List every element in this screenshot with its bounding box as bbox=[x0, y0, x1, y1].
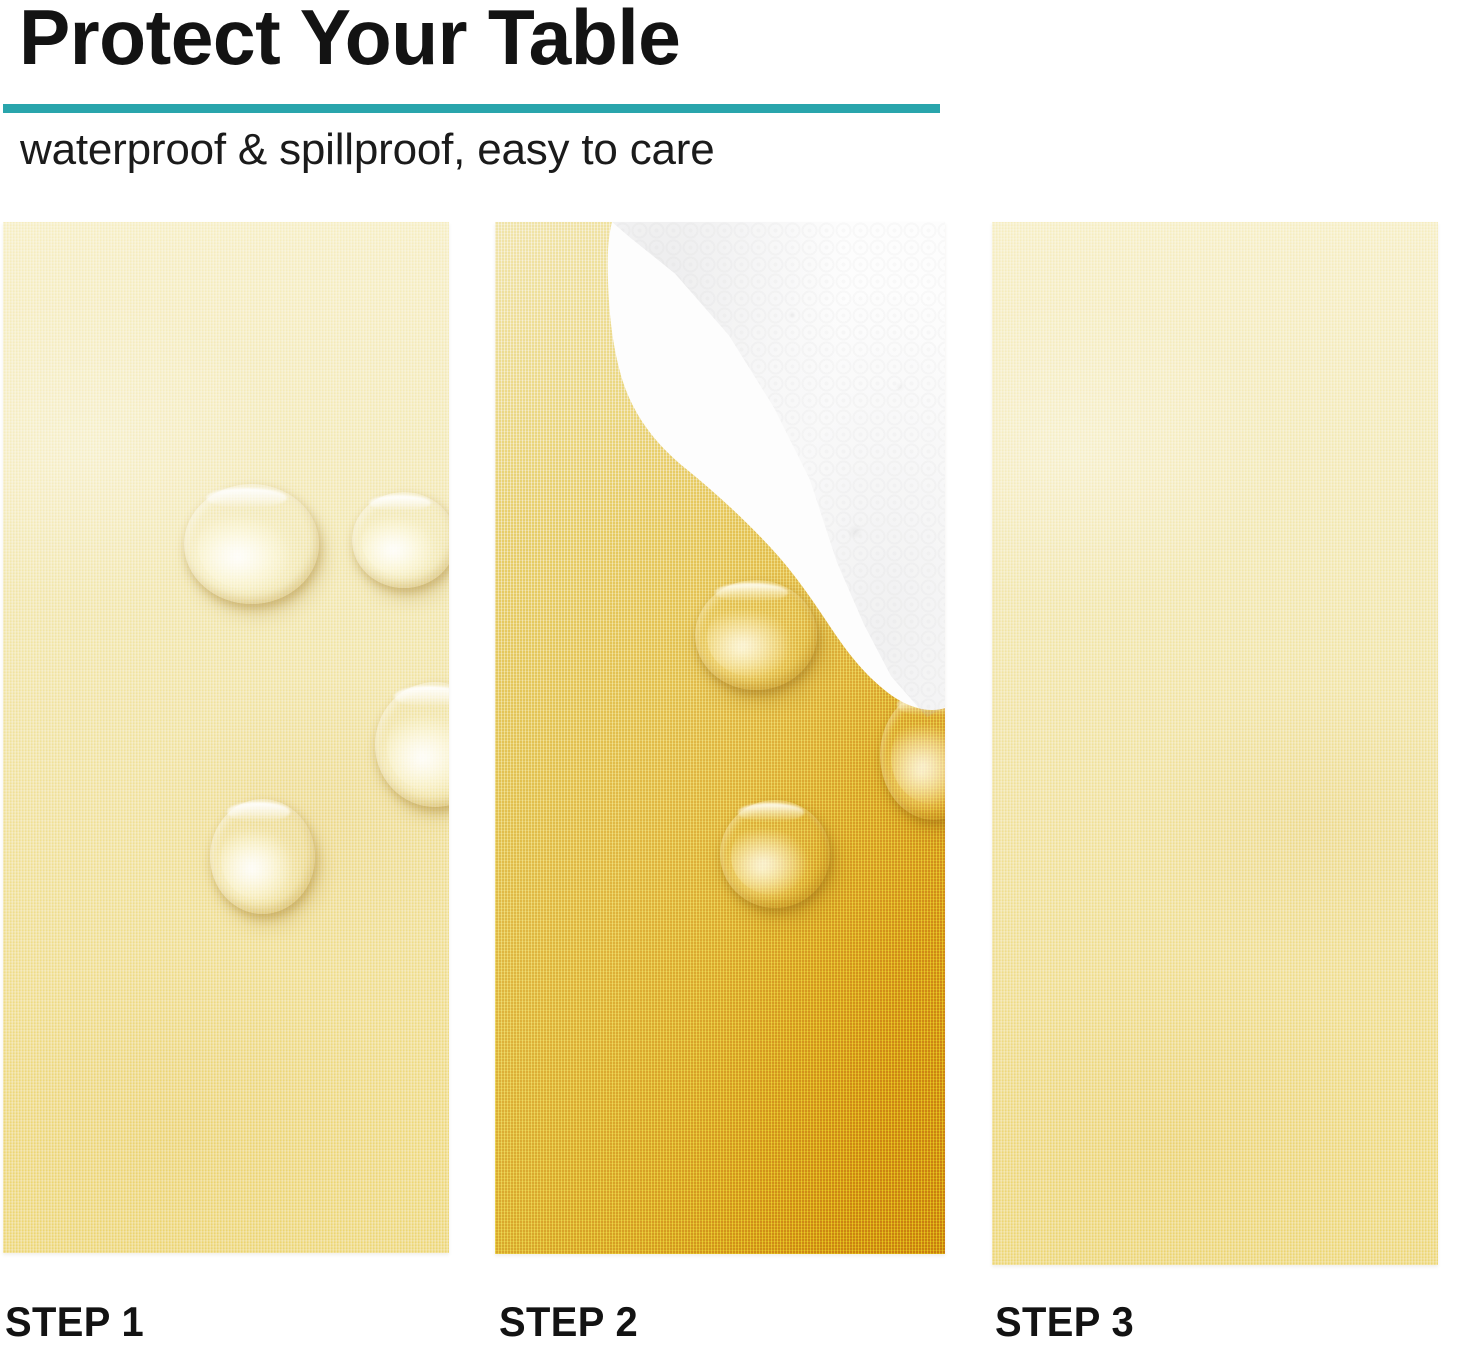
page-title: Protect Your Table bbox=[19, 0, 680, 79]
page-subtitle: waterproof & spillproof, easy to care bbox=[20, 125, 715, 176]
step-1-image-panel bbox=[3, 222, 449, 1253]
step-2-image-panel bbox=[495, 222, 945, 1254]
water-droplet bbox=[720, 800, 830, 908]
step-1-label: STEP 1 bbox=[5, 1298, 144, 1346]
header: Protect Your Table waterproof & spillpro… bbox=[0, 0, 1458, 200]
water-droplet bbox=[352, 492, 449, 588]
title-divider-rule bbox=[3, 104, 940, 113]
fabric-shading bbox=[495, 222, 945, 1254]
water-droplet bbox=[210, 799, 315, 914]
step-3-label: STEP 3 bbox=[995, 1298, 1134, 1346]
step-3-image-panel bbox=[992, 222, 1438, 1265]
fabric-background bbox=[992, 222, 1438, 1265]
water-droplet bbox=[695, 580, 817, 690]
step-2-label: STEP 2 bbox=[499, 1298, 638, 1346]
water-droplet bbox=[184, 484, 319, 604]
